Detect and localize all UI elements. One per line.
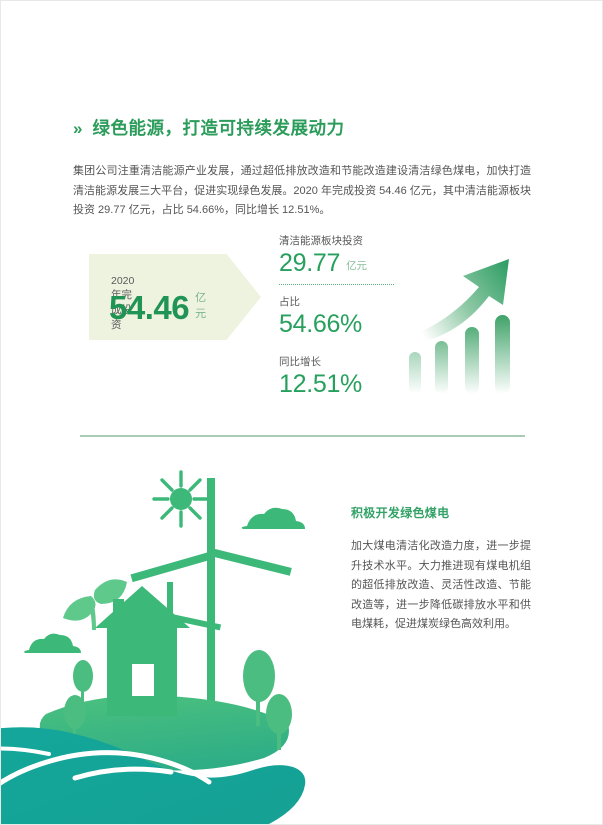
report-page: » 绿色能源，打造可持续发展动力 集团公司注重清洁能源产业发展，通过超低排放改造…	[0, 0, 603, 825]
stat-value: 12.51%	[279, 370, 362, 398]
banner-value: 54.46	[109, 291, 189, 324]
hand-holding-green-energy-illustration	[0, 456, 331, 825]
section-heading: » 绿色能源，打造可持续发展动力	[73, 115, 344, 140]
intro-paragraph: 集团公司注重清洁能源产业发展，通过超低排放改造和节能改造建设清洁绿色煤电，加快打…	[73, 162, 531, 221]
dotted-separator	[279, 284, 394, 285]
stat-value: 29.77	[279, 249, 340, 277]
subsection-heading: 积极开发绿色煤电	[351, 504, 449, 521]
stat-label: 清洁能源板块投资	[279, 233, 429, 248]
banner-unit: 亿元	[195, 289, 206, 324]
subsection-paragraph: 加大煤电清洁化改造力度，进一步提升技术水平。大力推进现有煤电机组的超低排放改造、…	[351, 537, 531, 635]
section-divider	[80, 435, 525, 437]
stat-unit: 亿元	[346, 258, 367, 277]
growth-arrow-chart-icon	[399, 249, 549, 399]
house-icon	[95, 586, 190, 716]
stat-value: 54.66%	[279, 310, 362, 338]
page-title: 绿色能源，打造可持续发展动力	[92, 115, 344, 140]
double-chevron-icon: »	[73, 119, 81, 139]
